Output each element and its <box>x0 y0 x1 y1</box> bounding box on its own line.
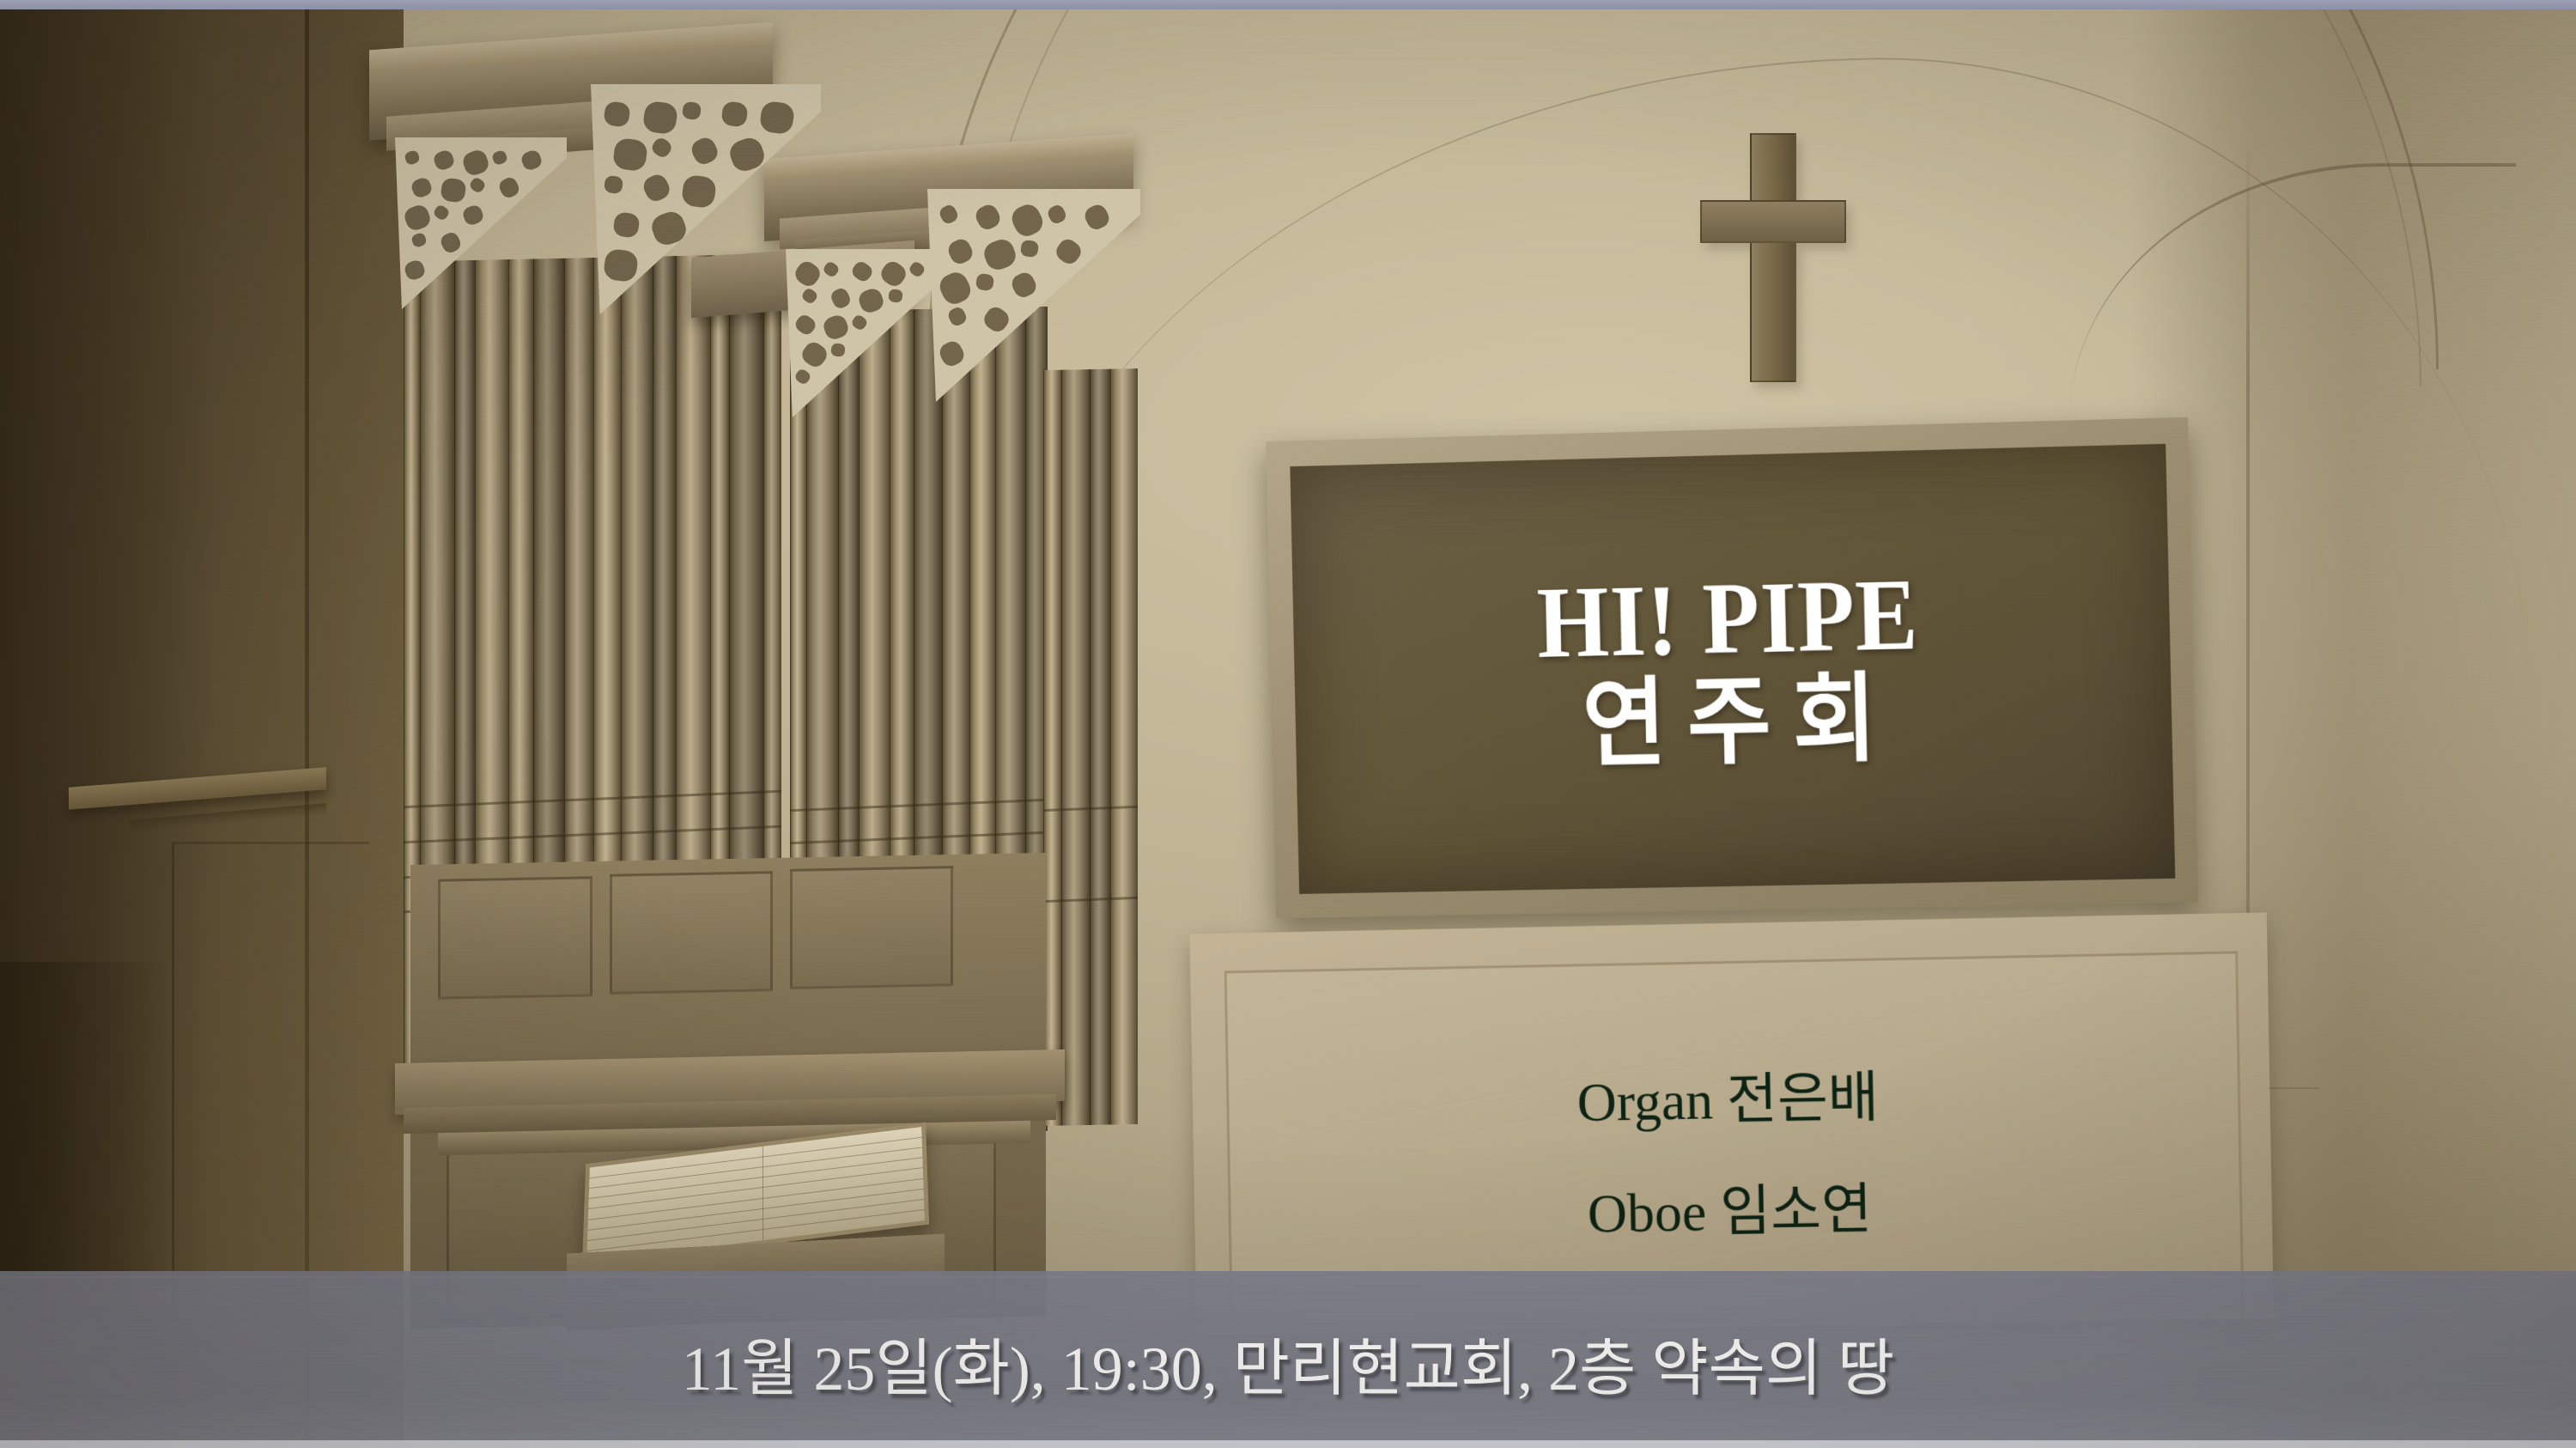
music-desk-line <box>588 1178 923 1220</box>
lattice-hole <box>439 230 463 255</box>
music-desk-line <box>589 1158 923 1200</box>
lattice-hole <box>603 248 639 283</box>
music-desk-line <box>587 1189 923 1231</box>
lattice-hole <box>793 368 811 386</box>
lattice-hole <box>641 100 677 136</box>
lattice-hole <box>822 259 840 277</box>
lattice-hole <box>946 305 969 327</box>
lattice-hole <box>800 287 818 305</box>
poster-title-english: HI! PIPE <box>1536 564 1920 674</box>
lattice-hole <box>857 286 887 315</box>
lattice-hole <box>1046 203 1068 225</box>
lattice-hole <box>1008 200 1047 240</box>
cross-vertical-bar <box>1750 133 1796 382</box>
top-edge-strip <box>0 0 2576 9</box>
lattice-hole <box>849 259 874 283</box>
lattice-hole <box>432 149 456 172</box>
lattice-hole <box>1053 235 1084 267</box>
left-wall-lower-shadow <box>0 962 172 1323</box>
organ-cabinet-panel <box>438 876 592 999</box>
lattice-hole <box>410 176 434 199</box>
lattice-hole <box>727 135 768 174</box>
sanctuary-scene: HI! PIPE 연주회 Organ 전은배 Oboe 임소연 <box>0 0 2576 1448</box>
lattice-hole <box>519 149 544 172</box>
lattice-hole <box>468 176 487 195</box>
lattice-hole <box>689 135 721 168</box>
lattice-hole <box>981 303 1012 335</box>
cross-horizontal-bar <box>1700 200 1846 243</box>
lattice-hole <box>649 136 674 161</box>
lattice-hole <box>1009 270 1039 301</box>
concert-title-board: HI! PIPE 연주회 <box>1266 417 2198 918</box>
event-details-bar: 11월 25일(화), 19:30, 만리현교회, 2층 약속의 땅 <box>0 1271 2576 1448</box>
pipe-organ-icon <box>309 0 1082 1323</box>
lattice-hole <box>410 232 428 249</box>
lattice-hole <box>432 204 451 222</box>
lattice-hole <box>851 313 869 332</box>
lattice-hole <box>640 172 672 205</box>
lattice-hole <box>461 204 485 227</box>
lattice-hole <box>648 209 689 248</box>
lattice-hole <box>936 269 975 308</box>
lattice-hole <box>975 273 994 291</box>
lattice-hole <box>973 202 1003 233</box>
lattice-hole <box>491 149 508 167</box>
lattice-hole <box>830 343 846 357</box>
lattice-hole <box>937 338 967 369</box>
bottom-edge-strip <box>0 1440 2576 1448</box>
lattice-hole <box>682 101 702 121</box>
lattice-hole <box>404 149 421 167</box>
lattice-hole <box>604 175 624 195</box>
lattice-hole <box>497 175 521 200</box>
lattice-hole <box>720 101 749 129</box>
lattice-hole <box>888 289 903 303</box>
lattice-hole <box>945 236 975 267</box>
lattice-hole <box>611 137 647 173</box>
lattice-hole <box>603 101 631 129</box>
lattice-hole <box>792 258 824 289</box>
wall-cross-icon <box>1700 133 1846 382</box>
lattice-hole <box>981 236 1018 273</box>
lattice-hole <box>1020 239 1039 257</box>
lattice-hole <box>793 313 817 338</box>
lattice-hole <box>759 100 795 136</box>
lattice-hole <box>612 211 641 239</box>
poster-title-korean: 연주회 <box>1560 672 1899 775</box>
lattice-hole <box>821 313 851 342</box>
organ-pipe-bank-right <box>1043 368 1138 1126</box>
lattice-hole <box>460 148 490 178</box>
lattice-hole <box>440 177 466 203</box>
lattice-hole <box>938 203 960 225</box>
lattice-hole <box>681 174 717 210</box>
lattice-hole <box>878 258 910 289</box>
organ-cabinet-panel <box>610 871 773 995</box>
lattice-hole <box>829 286 853 310</box>
lattice-hole <box>403 259 427 282</box>
lattice-hole <box>402 203 432 233</box>
performer-oboe: Oboe 임소연 <box>1587 1179 1872 1244</box>
music-desk-line <box>588 1168 923 1210</box>
lattice-hole <box>799 338 831 370</box>
lattice-hole <box>1082 202 1112 233</box>
lattice-hole <box>908 259 926 277</box>
organ-cabinet-panel <box>790 866 953 989</box>
event-details-text: 11월 25일(화), 19:30, 만리현교회, 2층 약속의 땅 <box>682 1317 1894 1408</box>
performer-organ: Organ 전은배 <box>1577 1067 1879 1133</box>
concert-poster: HI! PIPE 연주회 Organ 전은배 Oboe 임소연 11월 25일(… <box>0 0 2576 1448</box>
